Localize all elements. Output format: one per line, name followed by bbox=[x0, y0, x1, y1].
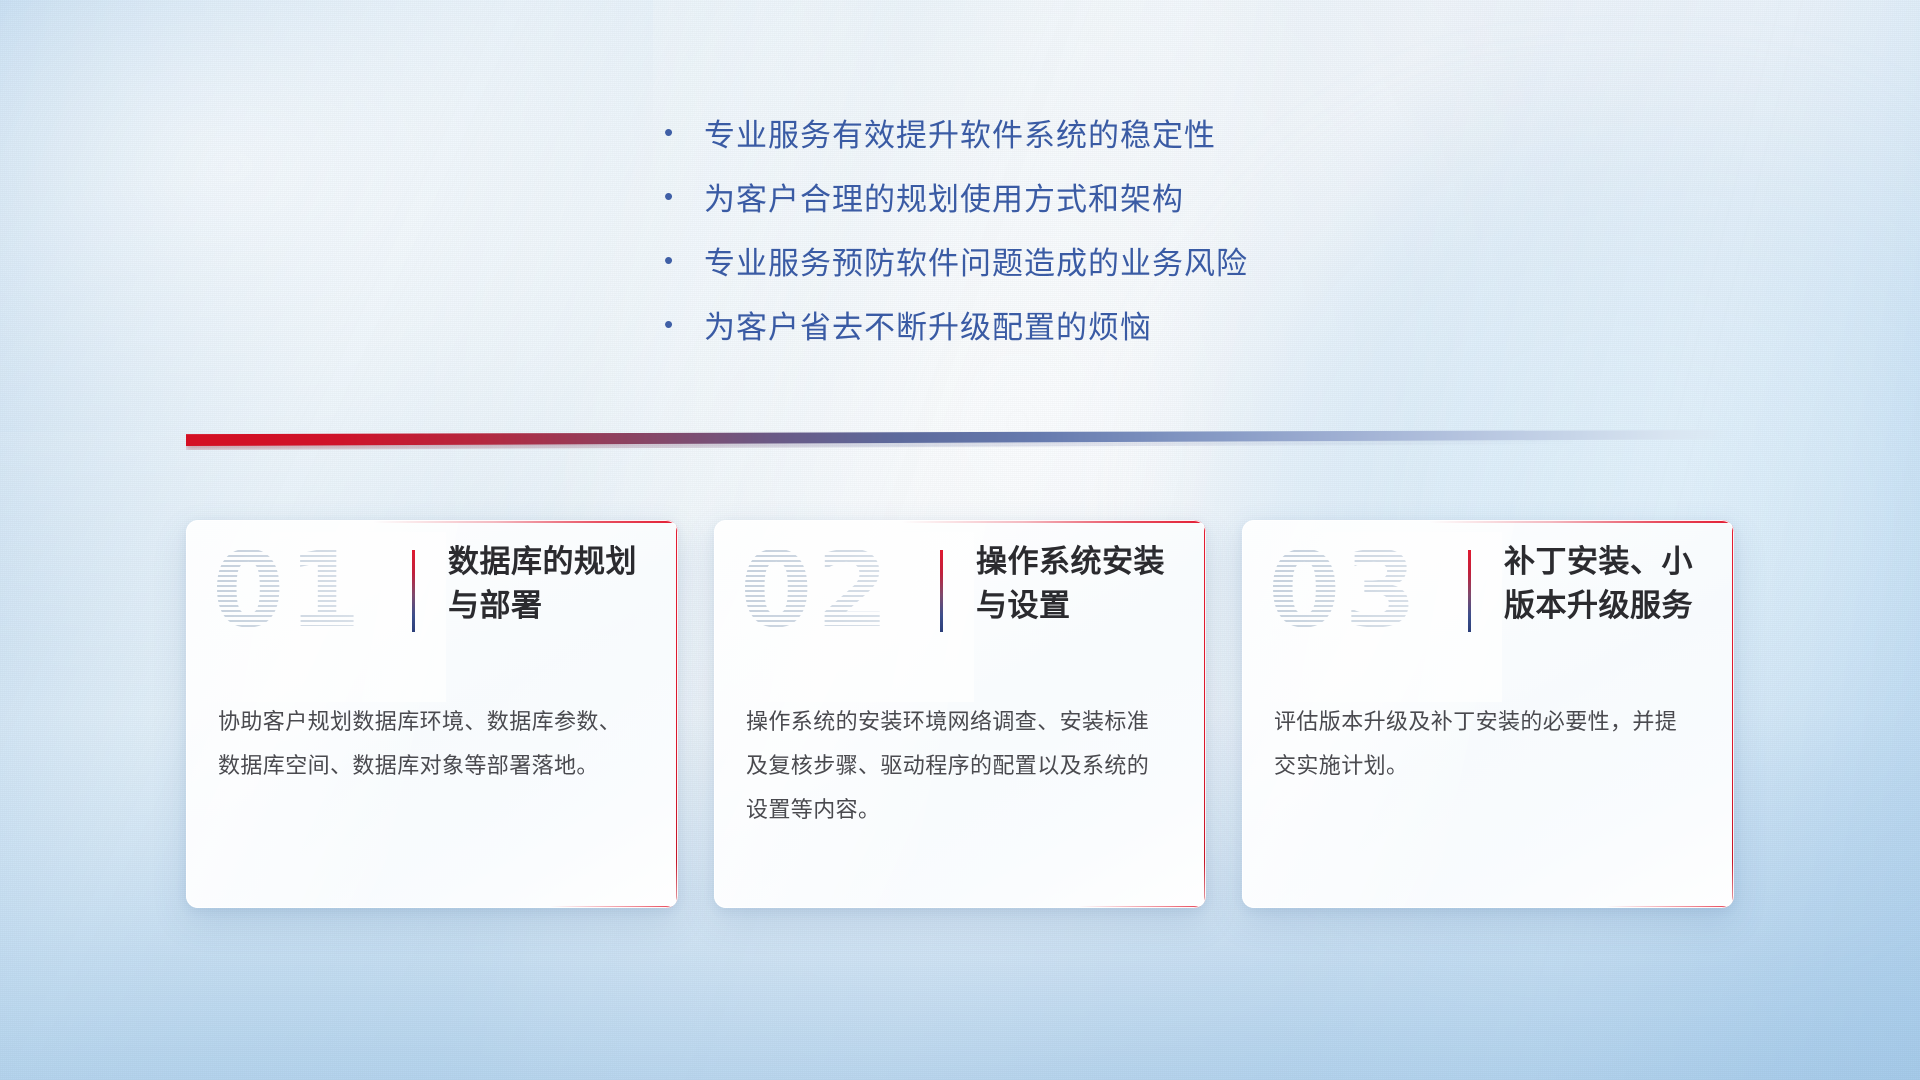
service-card[interactable]: 02 操作系统安装与设置 操作系统的安装环境网络调查、安装标准及复核步骤、驱动程… bbox=[714, 520, 1206, 908]
benefits-bullet-list: • 专业服务有效提升软件系统的稳定性 • 为客户合理的规划使用方式和架构 • 专… bbox=[660, 100, 1420, 356]
card-header: 02 操作系统安装与设置 bbox=[714, 542, 1206, 680]
card-title-rule bbox=[940, 550, 943, 632]
card-number: 01 bbox=[212, 538, 365, 642]
card-header: 01 数据库的规划与部署 bbox=[186, 542, 678, 680]
card-accent-bottom bbox=[550, 906, 678, 908]
card-number: 03 bbox=[1268, 538, 1421, 642]
list-item: • 专业服务有效提升软件系统的稳定性 bbox=[660, 100, 1420, 164]
bullet-text: 专业服务预防软件问题造成的业务风险 bbox=[704, 238, 1248, 283]
service-card[interactable]: 03 补丁安装、小版本升级服务 评估版本升级及补丁安装的必要性，并提交实施计划。 bbox=[1242, 520, 1734, 908]
bullet-dot-icon: • bbox=[660, 183, 704, 209]
card-accent-bottom bbox=[1606, 906, 1734, 908]
card-accent-top bbox=[1429, 520, 1734, 523]
card-title: 补丁安装、小版本升级服务 bbox=[1504, 540, 1714, 628]
card-number: 02 bbox=[740, 538, 893, 642]
card-title-rule bbox=[1468, 550, 1471, 632]
bullet-text: 为客户省去不断升级配置的烦恼 bbox=[704, 302, 1152, 347]
card-body-text: 协助客户规划数据库环境、数据库参数、数据库空间、数据库对象等部署落地。 bbox=[218, 700, 642, 788]
card-title-rule bbox=[412, 550, 415, 632]
bullet-dot-icon: • bbox=[660, 311, 704, 337]
bullet-text: 为客户合理的规划使用方式和架构 bbox=[704, 174, 1184, 219]
list-item: • 为客户合理的规划使用方式和架构 bbox=[660, 164, 1420, 228]
card-body-text: 操作系统的安装环境网络调查、安装标准及复核步骤、驱动程序的配置以及系统的设置等内… bbox=[746, 700, 1170, 832]
bullet-dot-icon: • bbox=[660, 119, 704, 145]
card-body-text: 评估版本升级及补丁安装的必要性，并提交实施计划。 bbox=[1274, 700, 1698, 788]
card-accent-top bbox=[901, 520, 1206, 523]
service-card[interactable]: 01 数据库的规划与部署 协助客户规划数据库环境、数据库参数、数据库空间、数据库… bbox=[186, 520, 678, 908]
list-item: • 专业服务预防软件问题造成的业务风险 bbox=[660, 228, 1420, 292]
bullet-text: 专业服务有效提升软件系统的稳定性 bbox=[704, 110, 1216, 155]
list-item: • 为客户省去不断升级配置的烦恼 bbox=[660, 292, 1420, 356]
section-divider bbox=[186, 430, 1734, 446]
card-header: 03 补丁安装、小版本升级服务 bbox=[1242, 542, 1734, 680]
card-accent-top bbox=[373, 520, 678, 523]
slide-canvas: • 专业服务有效提升软件系统的稳定性 • 为客户合理的规划使用方式和架构 • 专… bbox=[0, 0, 1920, 1080]
card-accent-bottom bbox=[1078, 906, 1206, 908]
service-card-row: 01 数据库的规划与部署 协助客户规划数据库环境、数据库参数、数据库空间、数据库… bbox=[186, 520, 1734, 930]
bullet-dot-icon: • bbox=[660, 247, 704, 273]
card-title: 操作系统安装与设置 bbox=[976, 540, 1186, 628]
card-title: 数据库的规划与部署 bbox=[448, 540, 658, 628]
